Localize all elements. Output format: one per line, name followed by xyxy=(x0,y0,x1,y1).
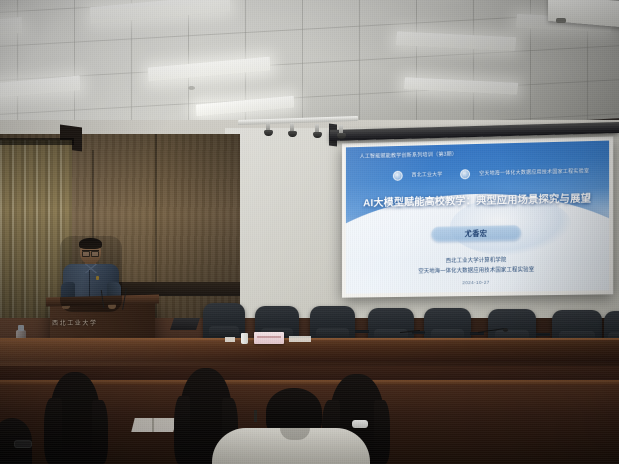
track-spotlight xyxy=(290,123,294,132)
projector-lens-icon xyxy=(556,18,566,23)
head-table-front-panel xyxy=(0,362,619,382)
water-bottle-cap xyxy=(18,325,24,331)
slide-logo-right-text: 空天地海一体化大数据应用技术国家工程实验室 xyxy=(479,167,589,177)
track-spotlight xyxy=(266,122,270,131)
slide-speaker-pill: 尤香宏 xyxy=(431,225,521,242)
eyeglasses-icon xyxy=(82,250,99,255)
audience-hair-strand xyxy=(44,398,62,464)
curtain-rod xyxy=(0,138,74,145)
chair-armrest xyxy=(536,333,550,336)
name-card-text-line xyxy=(257,336,281,338)
audience-hair-strand xyxy=(174,396,190,464)
laptop xyxy=(170,318,200,330)
slide-series-banner: 人工智能赋能教学创新系列培训（第3期） xyxy=(360,150,458,159)
slide-logo-left-text: 西北工业大学 xyxy=(412,171,443,179)
presenter-lapel-badge xyxy=(96,276,99,280)
slide-speaker-name: 尤香宏 xyxy=(443,228,509,239)
hair-clip-icon xyxy=(352,420,368,428)
paper-sheet xyxy=(289,336,311,342)
track-spotlight xyxy=(315,124,319,133)
open-notebook xyxy=(131,418,176,432)
paper-sheet xyxy=(225,337,235,342)
track-spotlight xyxy=(339,125,343,134)
pen xyxy=(254,410,257,422)
smoke-detector-icon xyxy=(188,86,195,90)
paper-cup xyxy=(241,333,248,344)
lectern-institution-text: 西北工业大学 xyxy=(52,318,122,327)
chair-armrest xyxy=(355,330,369,333)
lecture-hall-photo: 人工智能赋能教学创新系列培训（第3期） 西北工业大学 空天地海一体化大数据应用技… xyxy=(0,0,619,464)
name-card xyxy=(254,332,284,344)
projection-screen: 人工智能赋能教学创新系列培训（第3期） 西北工业大学 空天地海一体化大数据应用技… xyxy=(342,136,613,297)
table-microphone-head xyxy=(503,328,508,332)
audience-hair-strand xyxy=(374,400,390,464)
presenter-hair xyxy=(79,238,102,249)
presentation-slide: 人工智能赋能教学创新系列培训（第3期） 西北工业大学 空天地海一体化大数据应用技… xyxy=(346,141,609,294)
university-logo-icon xyxy=(393,170,403,180)
slide-logo-row: 西北工业大学 空天地海一体化大数据应用技术国家工程实验室 xyxy=(393,166,573,181)
audience-hair-strand xyxy=(92,400,108,464)
notebook-page-line xyxy=(152,418,154,432)
presenter-shirt-collar xyxy=(80,264,101,273)
lab-logo-icon xyxy=(460,169,470,179)
audience-eyeglasses-icon xyxy=(14,440,32,448)
